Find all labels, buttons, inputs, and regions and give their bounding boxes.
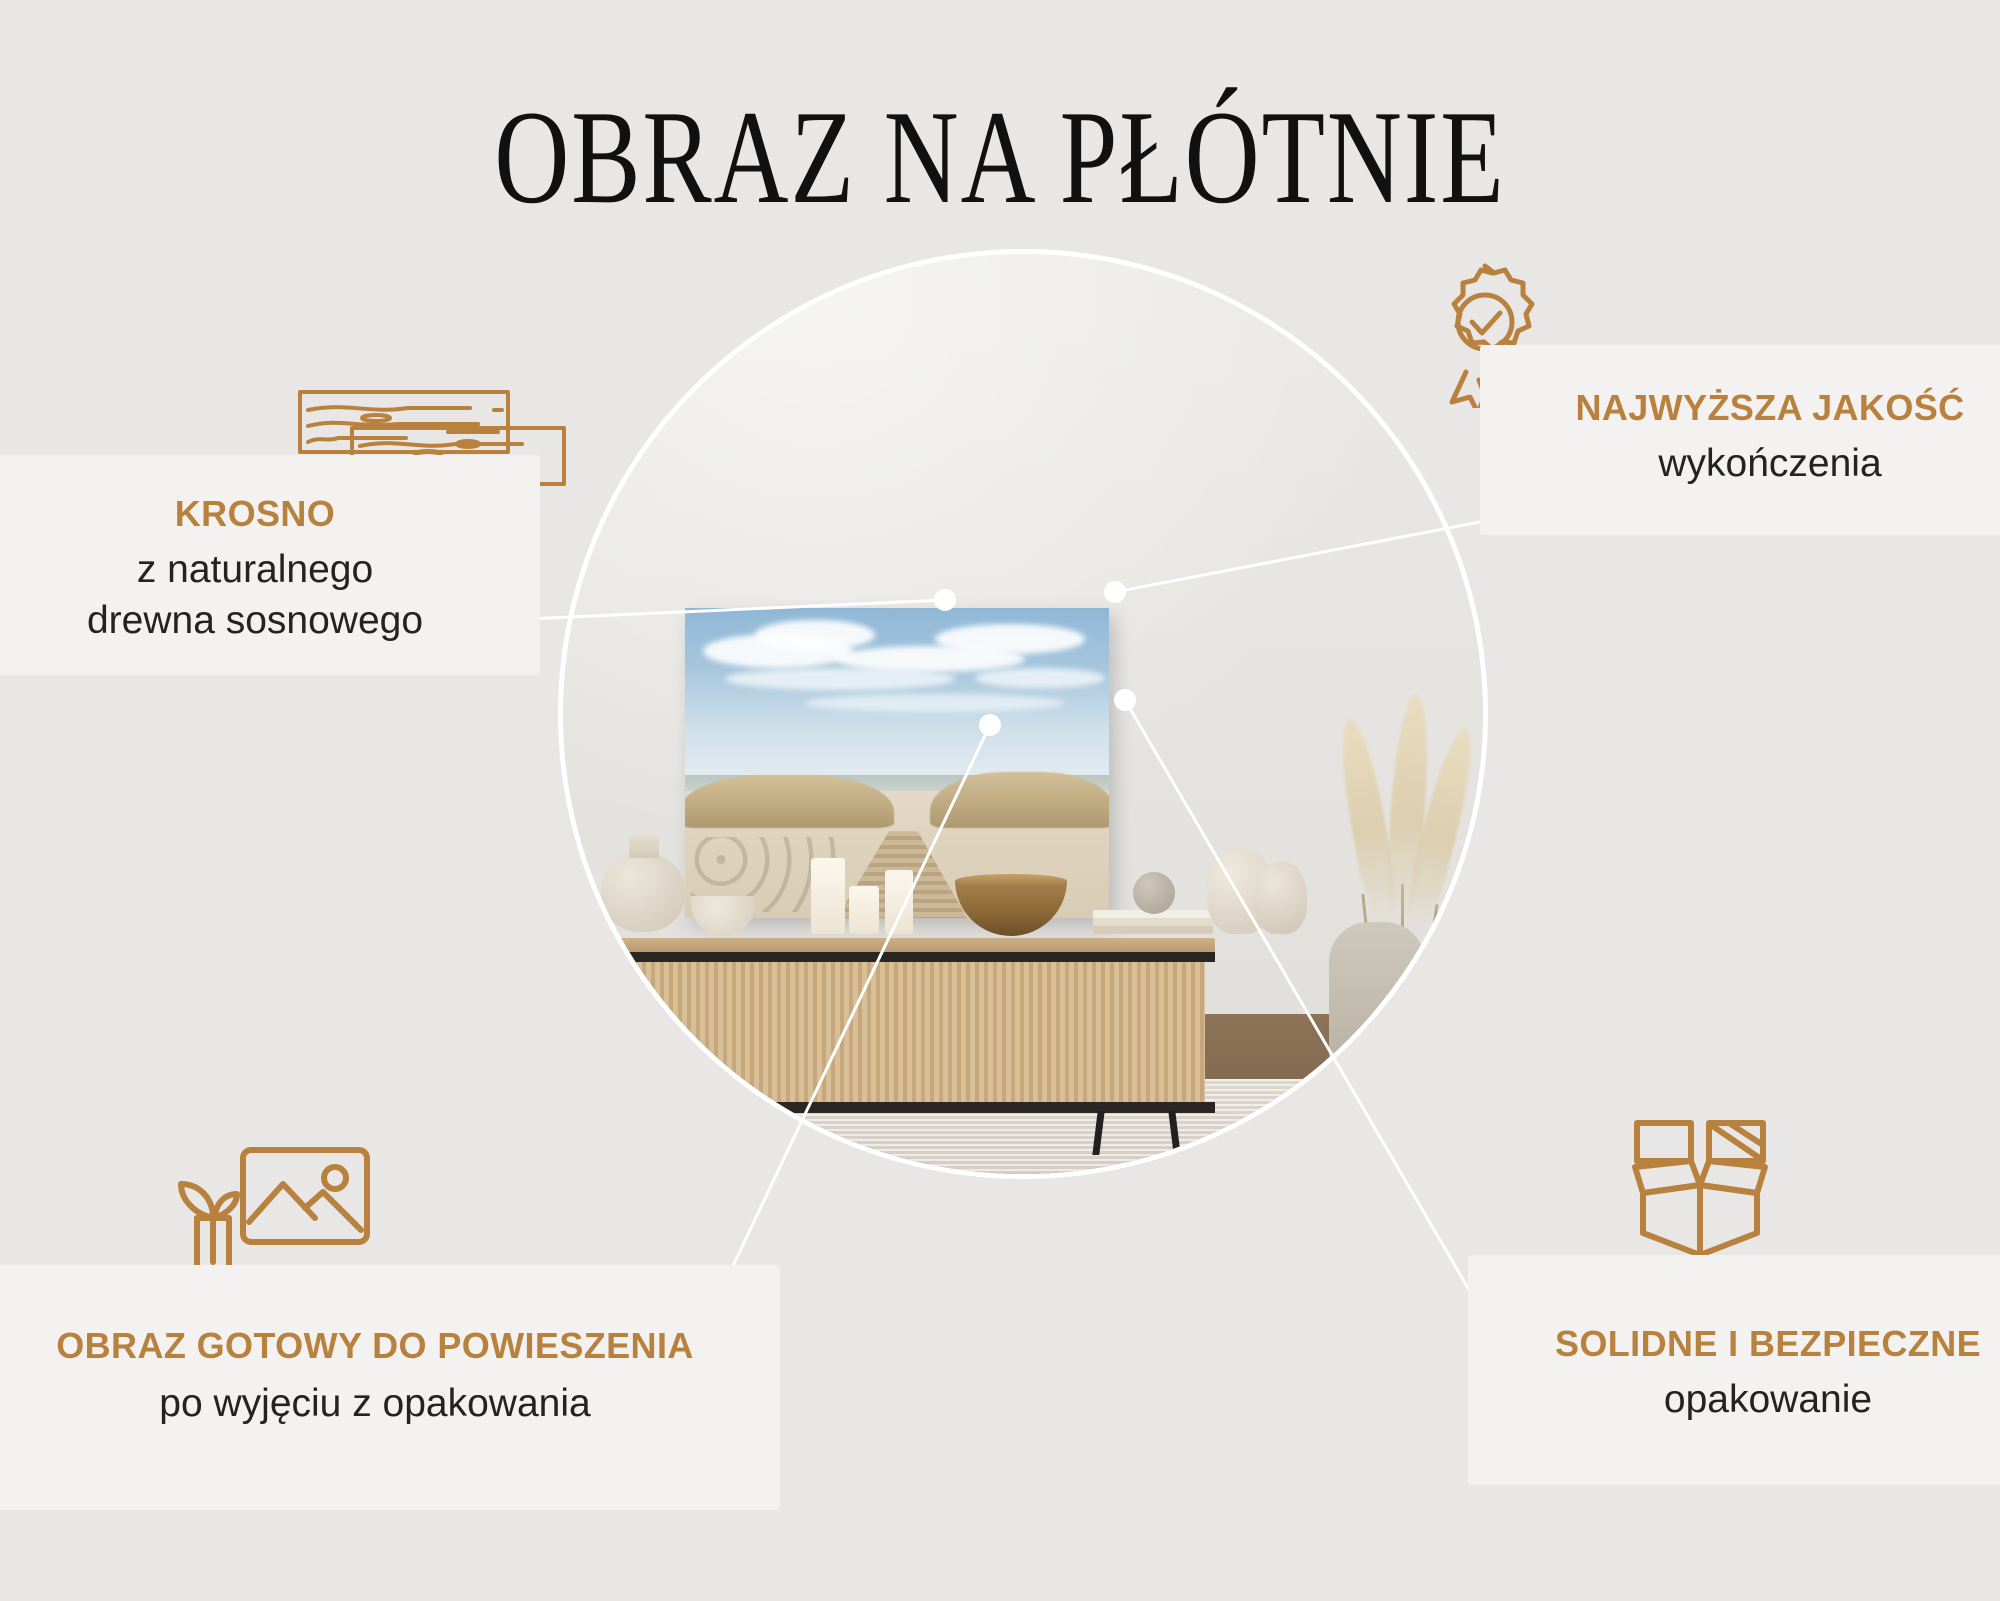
feature-subtext-ready: po wyjęciu z opakowania [0,1379,780,1430]
round-vase [601,852,685,932]
feature-subtext-line: po wyjęciu z opakowania [0,1379,780,1430]
floor-vase [1329,922,1425,1122]
brass-bowl-rim [955,874,1067,888]
feature-subtext-line: z naturalnego [0,545,540,596]
page-title: OBRAZ NA PŁÓTNIE [30,82,1970,236]
artwork-dune-left [685,775,894,828]
feature-heading-ready: OBRAZ GOTOWY DO POWIESZENIA [0,1325,780,1367]
feature-heading-krosno: KROSNO [0,493,540,535]
infographic-canvas: OBRAZ NA PŁÓTNIE [0,0,2000,1601]
room-scene [563,254,1483,1174]
tall-vase-secondary [1255,862,1307,934]
sideboard [563,938,1215,1128]
feature-card-krosno: KROSNO z naturalnego drewna sosnowego [0,455,540,675]
feature-subtext-packaging: opakowanie [1468,1375,2000,1426]
stone-sphere [1133,872,1175,914]
open-box-icon [1625,1115,1775,1270]
candle [849,886,879,934]
feature-subtext-line: wykończenia [1480,439,2000,490]
artwork-dune-right [930,772,1109,828]
feature-card-packaging: SOLIDNE I BEZPIECZNE opakowanie [1468,1255,2000,1485]
feature-subtext-line: drewna sosnowego [0,596,540,647]
candle [885,870,913,934]
feature-card-quality: NAJWYŻSZA JAKOŚĆ wykończenia [1480,345,2000,535]
feature-subtext-line: opakowanie [1468,1375,2000,1426]
candle [811,858,845,934]
feature-card-ready-to-hang: OBRAZ GOTOWY DO POWIESZENIA po wyjęciu z… [0,1265,780,1510]
artwork-sky [685,608,1109,782]
feature-heading-quality: NAJWYŻSZA JAKOŚĆ [1480,387,2000,429]
feature-subtext-quality: wykończenia [1480,439,2000,490]
product-photo-circle [563,254,1483,1174]
round-vase-neck [629,836,659,858]
feature-subtext-krosno: z naturalnego drewna sosnowego [0,545,540,646]
feature-heading-packaging: SOLIDNE I BEZPIECZNE [1468,1323,2000,1365]
